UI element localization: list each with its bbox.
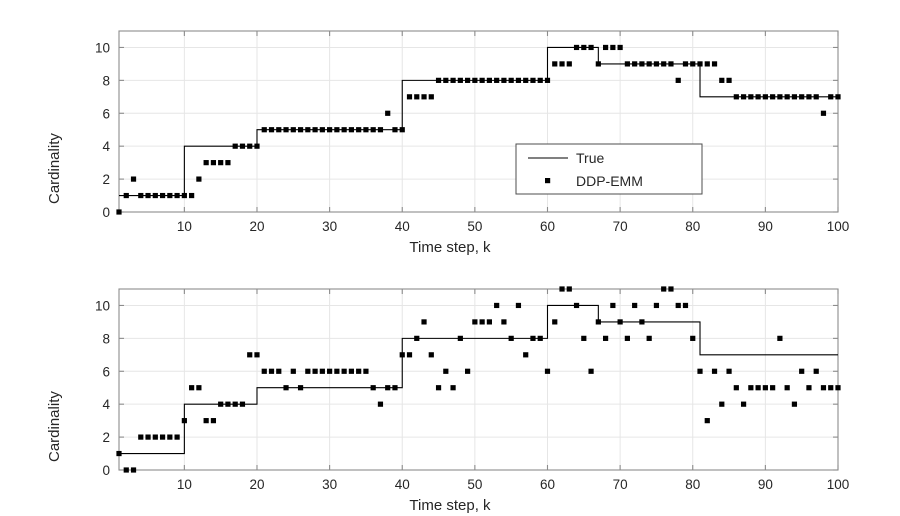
x-tick-label: 100 — [827, 219, 850, 234]
data-marker — [131, 467, 136, 472]
series-markers-ddp-emm — [116, 45, 840, 215]
data-marker — [639, 61, 644, 66]
data-marker — [487, 319, 492, 324]
data-marker — [697, 61, 702, 66]
series-line-true — [119, 305, 838, 453]
data-marker — [327, 369, 332, 374]
data-marker — [182, 193, 187, 198]
data-marker — [334, 369, 339, 374]
data-marker — [392, 385, 397, 390]
data-marker — [291, 369, 296, 374]
data-marker — [530, 336, 535, 341]
data-marker — [654, 61, 659, 66]
data-marker — [538, 78, 543, 83]
x-tick-label: 20 — [249, 477, 264, 492]
x-tick-label: 50 — [467, 477, 482, 492]
y-tick-label: 10 — [95, 298, 110, 313]
data-marker — [480, 319, 485, 324]
data-marker — [421, 319, 426, 324]
legend-label-true: True — [576, 150, 604, 166]
data-marker — [654, 303, 659, 308]
data-marker — [225, 402, 230, 407]
data-marker — [683, 61, 688, 66]
data-marker — [734, 385, 739, 390]
data-marker — [363, 127, 368, 132]
data-marker — [763, 94, 768, 99]
x-tick-label: 50 — [467, 219, 482, 234]
data-marker — [305, 369, 310, 374]
data-marker — [327, 127, 332, 132]
data-marker — [494, 78, 499, 83]
data-marker — [145, 193, 150, 198]
data-marker — [559, 286, 564, 291]
data-marker — [131, 176, 136, 181]
data-marker — [371, 385, 376, 390]
data-marker — [516, 78, 521, 83]
legend-marker-swatch — [545, 178, 550, 183]
data-marker — [741, 402, 746, 407]
data-marker — [160, 434, 165, 439]
data-marker — [588, 45, 593, 50]
data-marker — [145, 434, 150, 439]
y-tick-label: 8 — [102, 73, 110, 88]
plot-box — [119, 31, 838, 212]
data-marker — [494, 303, 499, 308]
data-marker — [189, 193, 194, 198]
data-marker — [298, 127, 303, 132]
data-marker — [196, 385, 201, 390]
data-marker — [472, 319, 477, 324]
data-marker — [167, 434, 172, 439]
data-marker — [175, 434, 180, 439]
plot-area-bottom: 1020304050607080901000246810TrueGLMB — [0, 258, 900, 516]
y-tick-label: 2 — [102, 172, 110, 187]
data-marker — [712, 61, 717, 66]
data-marker — [792, 402, 797, 407]
data-marker — [618, 319, 623, 324]
data-marker — [756, 94, 761, 99]
data-marker — [175, 193, 180, 198]
data-marker — [647, 61, 652, 66]
x-tick-label: 100 — [827, 477, 850, 492]
data-marker — [530, 78, 535, 83]
data-marker — [233, 402, 238, 407]
x-tick-label: 90 — [758, 219, 773, 234]
data-marker — [785, 94, 790, 99]
data-marker — [567, 286, 572, 291]
data-marker — [211, 160, 216, 165]
data-marker — [269, 369, 274, 374]
data-marker — [596, 61, 601, 66]
data-marker — [603, 45, 608, 50]
data-marker — [276, 127, 281, 132]
data-marker — [559, 61, 564, 66]
data-marker — [676, 303, 681, 308]
y-tick-label: 0 — [102, 205, 110, 220]
data-marker — [734, 94, 739, 99]
data-marker — [567, 61, 572, 66]
data-marker — [189, 385, 194, 390]
data-marker — [523, 78, 528, 83]
data-marker — [770, 385, 775, 390]
data-marker — [726, 369, 731, 374]
data-marker — [407, 94, 412, 99]
data-marker — [334, 127, 339, 132]
data-marker — [516, 303, 521, 308]
data-marker — [668, 286, 673, 291]
data-marker — [262, 127, 267, 132]
data-marker — [770, 94, 775, 99]
data-marker — [610, 45, 615, 50]
data-marker — [588, 369, 593, 374]
y-tick-label: 0 — [102, 463, 110, 478]
data-marker — [668, 61, 673, 66]
data-marker — [806, 385, 811, 390]
data-marker — [835, 94, 840, 99]
data-marker — [661, 286, 666, 291]
data-marker — [269, 127, 274, 132]
data-marker — [414, 336, 419, 341]
y-tick-label: 8 — [102, 331, 110, 346]
data-marker — [618, 45, 623, 50]
x-tick-label: 70 — [613, 477, 628, 492]
data-marker — [487, 78, 492, 83]
x-tick-label: 10 — [177, 477, 192, 492]
data-marker — [356, 369, 361, 374]
data-marker — [240, 402, 245, 407]
x-tick-label: 30 — [322, 219, 337, 234]
data-marker — [356, 127, 361, 132]
data-marker — [443, 78, 448, 83]
data-marker — [501, 78, 506, 83]
x-tick-label: 40 — [395, 477, 410, 492]
data-marker — [378, 402, 383, 407]
data-marker — [283, 385, 288, 390]
data-marker — [574, 45, 579, 50]
data-marker — [596, 319, 601, 324]
x-tick-label: 80 — [685, 477, 700, 492]
data-marker — [211, 418, 216, 423]
data-marker — [697, 369, 702, 374]
data-marker — [552, 319, 557, 324]
data-marker — [741, 94, 746, 99]
data-marker — [240, 144, 245, 149]
legend-label-method: DDP-EMM — [576, 173, 643, 189]
data-marker — [182, 418, 187, 423]
data-marker — [138, 434, 143, 439]
data-marker — [465, 78, 470, 83]
data-marker — [225, 160, 230, 165]
data-marker — [480, 78, 485, 83]
data-marker — [312, 369, 317, 374]
x-tick-label: 10 — [177, 219, 192, 234]
data-marker — [160, 193, 165, 198]
data-marker — [509, 336, 514, 341]
data-marker — [218, 402, 223, 407]
data-marker — [392, 127, 397, 132]
series-line-true — [119, 47, 838, 195]
data-marker — [291, 127, 296, 132]
figure-root: Cardinality Time step, k 102030405060708… — [0, 0, 900, 516]
data-marker — [421, 94, 426, 99]
data-marker — [523, 352, 528, 357]
data-marker — [647, 336, 652, 341]
x-tick-label: 60 — [540, 477, 555, 492]
data-marker — [545, 78, 550, 83]
data-marker — [320, 127, 325, 132]
data-marker — [581, 336, 586, 341]
data-marker — [763, 385, 768, 390]
data-marker — [342, 127, 347, 132]
plot-area-top: 1020304050607080901000246810TrueDDP-EMM — [0, 0, 900, 258]
data-marker — [835, 385, 840, 390]
data-marker — [748, 385, 753, 390]
data-marker — [204, 418, 209, 423]
data-marker — [756, 385, 761, 390]
data-marker — [124, 193, 129, 198]
data-marker — [545, 369, 550, 374]
data-marker — [501, 319, 506, 324]
data-marker — [828, 94, 833, 99]
data-marker — [719, 78, 724, 83]
x-tick-label: 60 — [540, 219, 555, 234]
data-marker — [298, 385, 303, 390]
data-marker — [632, 303, 637, 308]
data-marker — [385, 111, 390, 116]
data-marker — [552, 61, 557, 66]
y-tick-label: 2 — [102, 430, 110, 445]
data-marker — [799, 369, 804, 374]
data-marker — [683, 303, 688, 308]
data-marker — [792, 94, 797, 99]
data-marker — [247, 144, 252, 149]
data-marker — [116, 451, 121, 456]
data-marker — [116, 209, 121, 214]
data-marker — [719, 402, 724, 407]
data-marker — [726, 78, 731, 83]
data-marker — [705, 418, 710, 423]
x-tick-label: 70 — [613, 219, 628, 234]
data-marker — [814, 94, 819, 99]
x-tick-label: 30 — [322, 477, 337, 492]
data-marker — [821, 111, 826, 116]
data-marker — [690, 61, 695, 66]
data-marker — [625, 61, 630, 66]
data-marker — [821, 385, 826, 390]
data-marker — [414, 94, 419, 99]
y-tick-label: 4 — [102, 397, 110, 412]
data-marker — [777, 94, 782, 99]
data-marker — [777, 336, 782, 341]
data-marker — [450, 78, 455, 83]
data-marker — [378, 127, 383, 132]
data-marker — [705, 61, 710, 66]
data-marker — [574, 303, 579, 308]
plot-box — [119, 289, 838, 470]
series-markers-glmb — [116, 286, 840, 472]
data-marker — [799, 94, 804, 99]
data-marker — [661, 61, 666, 66]
data-marker — [385, 385, 390, 390]
x-tick-label: 40 — [395, 219, 410, 234]
data-marker — [806, 94, 811, 99]
data-marker — [436, 385, 441, 390]
data-marker — [312, 127, 317, 132]
data-marker — [349, 127, 354, 132]
data-marker — [828, 385, 833, 390]
data-marker — [371, 127, 376, 132]
data-marker — [603, 336, 608, 341]
data-marker — [153, 434, 158, 439]
data-marker — [625, 336, 630, 341]
data-marker — [138, 193, 143, 198]
data-marker — [465, 369, 470, 374]
data-marker — [247, 352, 252, 357]
data-marker — [204, 160, 209, 165]
data-marker — [581, 45, 586, 50]
data-marker — [342, 369, 347, 374]
data-marker — [450, 385, 455, 390]
data-marker — [458, 336, 463, 341]
data-marker — [233, 144, 238, 149]
data-marker — [748, 94, 753, 99]
data-marker — [276, 369, 281, 374]
data-marker — [254, 352, 259, 357]
data-marker — [509, 78, 514, 83]
data-marker — [218, 160, 223, 165]
data-marker — [320, 369, 325, 374]
data-marker — [538, 336, 543, 341]
data-marker — [472, 78, 477, 83]
y-tick-label: 10 — [95, 40, 110, 55]
data-marker — [407, 352, 412, 357]
data-marker — [610, 303, 615, 308]
data-marker — [254, 144, 259, 149]
data-marker — [712, 369, 717, 374]
y-tick-label: 4 — [102, 139, 110, 154]
y-tick-label: 6 — [102, 106, 110, 121]
data-marker — [196, 176, 201, 181]
x-tick-label: 20 — [249, 219, 264, 234]
data-marker — [167, 193, 172, 198]
data-marker — [400, 127, 405, 132]
chart-panel-bottom: Cardinality Time step, k 102030405060708… — [0, 258, 900, 516]
chart-panel-top: Cardinality Time step, k 102030405060708… — [0, 0, 900, 258]
data-marker — [153, 193, 158, 198]
x-tick-label: 80 — [685, 219, 700, 234]
data-marker — [814, 369, 819, 374]
data-marker — [429, 94, 434, 99]
data-marker — [632, 61, 637, 66]
data-marker — [124, 467, 129, 472]
data-marker — [785, 385, 790, 390]
data-marker — [676, 78, 681, 83]
data-marker — [305, 127, 310, 132]
data-marker — [690, 336, 695, 341]
y-tick-label: 6 — [102, 364, 110, 379]
x-tick-label: 90 — [758, 477, 773, 492]
data-marker — [429, 352, 434, 357]
data-marker — [283, 127, 288, 132]
data-marker — [349, 369, 354, 374]
data-marker — [458, 78, 463, 83]
data-marker — [639, 319, 644, 324]
data-marker — [363, 369, 368, 374]
data-marker — [262, 369, 267, 374]
data-marker — [443, 369, 448, 374]
data-marker — [400, 352, 405, 357]
data-marker — [436, 78, 441, 83]
